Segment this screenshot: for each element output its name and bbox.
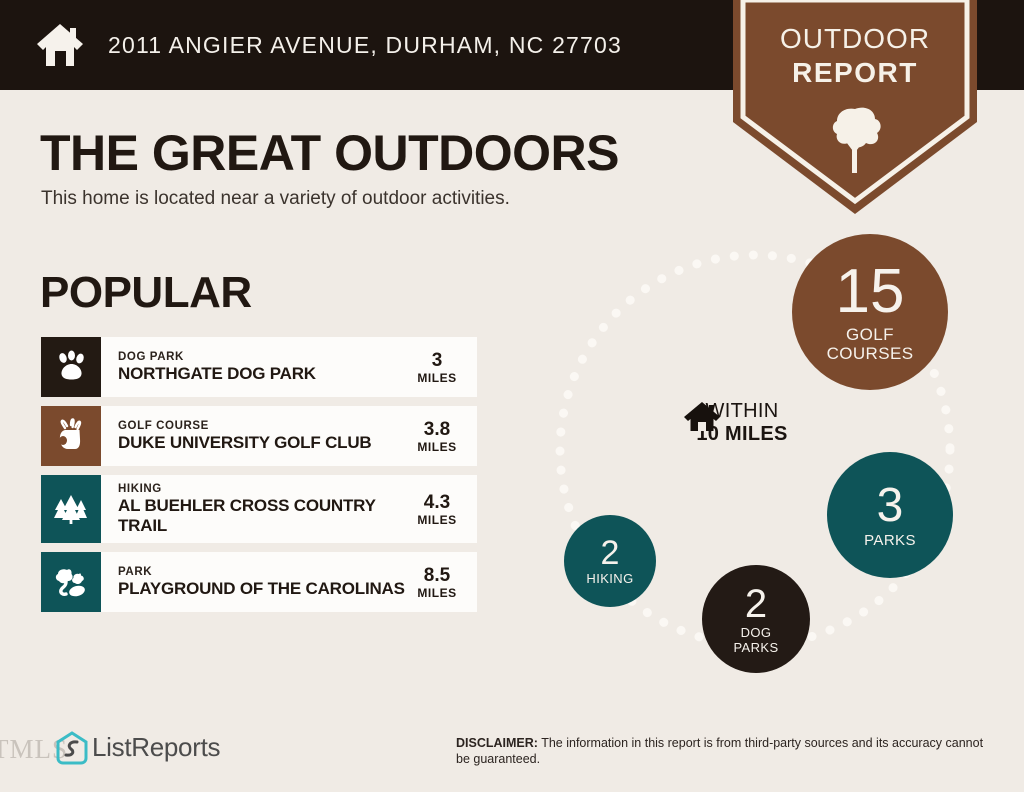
list-item[interactable]: DOG PARK NORTHGATE DOG PARK 3 MILES bbox=[41, 337, 477, 397]
paw-icon bbox=[54, 350, 88, 384]
golf-bag-icon-tile bbox=[41, 406, 101, 466]
distance-unit: MILES bbox=[409, 513, 465, 527]
distance-unit: MILES bbox=[409, 440, 465, 454]
list-item-name: DUKE UNIVERSITY GOLF CLUB bbox=[118, 433, 409, 453]
distance-unit: MILES bbox=[409, 371, 465, 385]
badge-line2: REPORT bbox=[731, 56, 979, 90]
list-item-category: HIKING bbox=[118, 482, 409, 496]
bubble-label-line2: COURSES bbox=[827, 344, 914, 363]
badge-label: OUTDOOR REPORT bbox=[731, 22, 979, 90]
distance-value: 8.5 bbox=[409, 565, 465, 586]
home-icon bbox=[682, 400, 722, 434]
bubble-label-line1: HIKING bbox=[586, 571, 633, 586]
park-icon-tile bbox=[41, 552, 101, 612]
listreports-logo-text: ListReports bbox=[92, 732, 220, 763]
bubble-value: 2 bbox=[601, 536, 620, 570]
disclaimer: DISCLAIMER: The information in this repo… bbox=[456, 735, 986, 767]
home-icon bbox=[34, 19, 86, 71]
header-address: 2011 ANGIER AVENUE, DURHAM, NC 27703 bbox=[108, 32, 622, 59]
list-item[interactable]: HIKING AL BUEHLER CROSS COUNTRY TRAIL 4.… bbox=[41, 475, 477, 543]
diagram-center-label: WITHIN 10 MILES bbox=[682, 400, 802, 446]
bubble-parks[interactable]: 3 PARKS bbox=[827, 452, 953, 578]
pine-trees-icon-tile bbox=[41, 475, 101, 543]
within-10-miles-diagram: 15 GOLF COURSES 3 PARKS 2 DOG PARKS 2 HI… bbox=[520, 215, 1024, 695]
list-item[interactable]: PARK PLAYGROUND OF THE CAROLINAS 8.5 MIL… bbox=[41, 552, 477, 612]
listreports-house-icon bbox=[56, 731, 88, 770]
list-item-name: AL BUEHLER CROSS COUNTRY TRAIL bbox=[118, 496, 409, 536]
pine-trees-icon bbox=[53, 493, 89, 525]
distance-value: 3.8 bbox=[409, 419, 465, 440]
list-item-distance: 3 MILES bbox=[409, 350, 471, 385]
list-item-distance: 4.3 MILES bbox=[409, 492, 471, 527]
list-item-category: PARK bbox=[118, 565, 409, 579]
bubble-dog-parks[interactable]: 2 DOG PARKS bbox=[702, 565, 810, 673]
bubble-label-line1: DOG bbox=[741, 625, 772, 640]
list-item-distance: 3.8 MILES bbox=[409, 419, 471, 454]
popular-list: DOG PARK NORTHGATE DOG PARK 3 MILES bbox=[41, 337, 477, 621]
bubble-label-line2: PARKS bbox=[733, 640, 778, 655]
list-item[interactable]: GOLF COURSE DUKE UNIVERSITY GOLF CLUB 3.… bbox=[41, 406, 477, 466]
distance-value: 4.3 bbox=[409, 492, 465, 513]
list-item-distance: 8.5 MILES bbox=[409, 565, 471, 600]
bubble-golf-courses[interactable]: 15 GOLF COURSES bbox=[792, 234, 948, 390]
park-icon bbox=[53, 566, 89, 598]
list-item-category: DOG PARK bbox=[118, 350, 409, 364]
bubble-label-line1: GOLF bbox=[846, 325, 894, 344]
list-item-category: GOLF COURSE bbox=[118, 419, 409, 433]
page-title: THE GREAT OUTDOORS bbox=[40, 124, 619, 182]
bubble-value: 3 bbox=[877, 482, 904, 530]
section-title-popular: POPULAR bbox=[40, 268, 252, 318]
golf-bag-icon bbox=[54, 418, 88, 454]
disclaimer-label: DISCLAIMER: bbox=[456, 736, 538, 750]
list-item-name: NORTHGATE DOG PARK bbox=[118, 364, 409, 384]
bubble-label-line1: PARKS bbox=[864, 532, 916, 549]
paw-icon-tile bbox=[41, 337, 101, 397]
page-subtitle: This home is located near a variety of o… bbox=[41, 188, 510, 210]
bubble-value: 15 bbox=[836, 261, 905, 323]
outdoor-report-badge: OUTDOOR REPORT bbox=[731, 0, 979, 216]
badge-line1: OUTDOOR bbox=[731, 22, 979, 56]
bubble-hiking[interactable]: 2 HIKING bbox=[564, 515, 656, 607]
outdoor-report-page: 2011 ANGIER AVENUE, DURHAM, NC 27703 OUT… bbox=[0, 0, 1024, 792]
distance-unit: MILES bbox=[409, 586, 465, 600]
distance-value: 3 bbox=[409, 350, 465, 371]
bubble-value: 2 bbox=[745, 584, 767, 624]
list-item-name: PLAYGROUND OF THE CAROLINAS bbox=[118, 579, 409, 599]
